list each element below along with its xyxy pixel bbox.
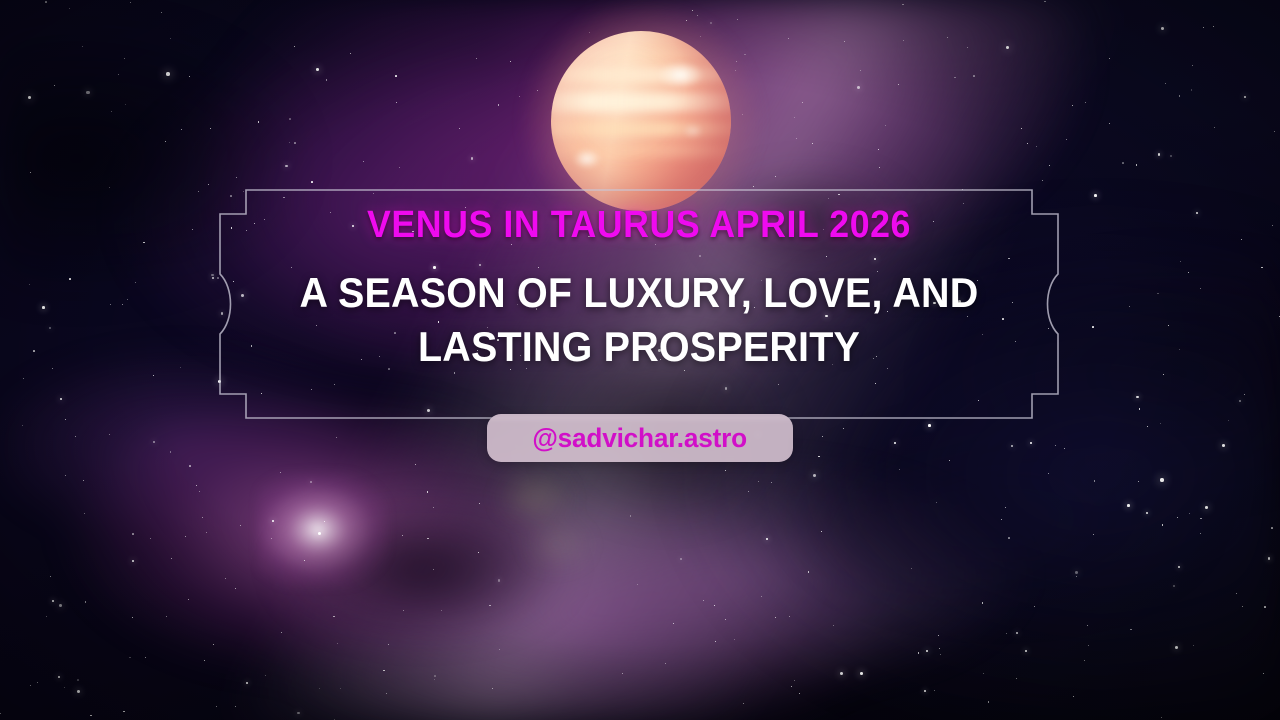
poster-subtitle-line-1: A SEASON OF LUXURY, LOVE, AND [241,266,1036,320]
poster-subtitle: A SEASON OF LUXURY, LOVE, AND LASTING PR… [241,266,1036,374]
page-title: VENUS IN TAURUS APRIL 2026 [241,206,1036,244]
poster-canvas: VENUS IN TAURUS APRIL 2026 A SEASON OF L… [0,0,1280,720]
social-handle-badge[interactable]: @sadvichar.astro [487,414,793,462]
planet-shading [551,31,731,211]
poster-subtitle-line-2: LASTING PROSPERITY [241,320,1036,374]
social-handle-label: @sadvichar.astro [533,423,748,454]
planet-icon [551,31,731,211]
planet-sphere [551,31,731,211]
poster-text-block: VENUS IN TAURUS APRIL 2026 A SEASON OF L… [216,206,1062,374]
